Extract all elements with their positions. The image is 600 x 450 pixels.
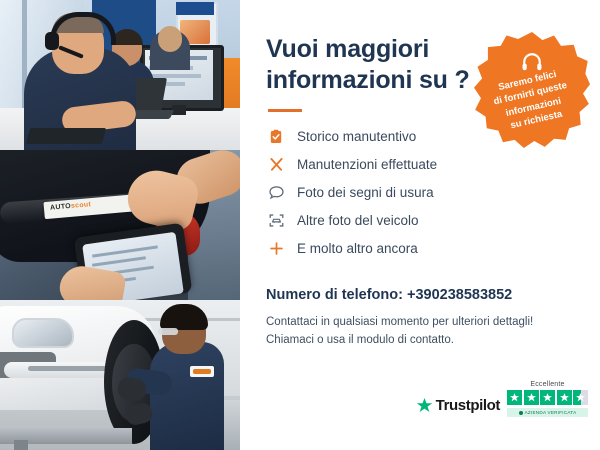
feature-item-maintenance-history: Storico manutentivo bbox=[266, 124, 506, 149]
poster-header bbox=[176, 2, 214, 15]
trustpilot-wordmark: Trustpilot bbox=[436, 397, 500, 414]
feature-label: Storico manutentivo bbox=[297, 129, 416, 144]
verified-check-icon bbox=[519, 411, 523, 415]
feature-label: Manutenzioni effettuate bbox=[297, 157, 437, 172]
photo-column: AUTOscout bbox=[0, 0, 240, 450]
tyre-service-photo bbox=[0, 300, 240, 450]
headset-earcup-icon bbox=[45, 32, 59, 50]
callout-badge: Saremo felici di fornirti queste informa… bbox=[474, 32, 590, 148]
feature-item-maintenance-done: Manutenzioni effettuate bbox=[266, 152, 506, 177]
promo-banner: AUTOscout bbox=[0, 0, 600, 450]
page-title: Vuoi maggiori informazioni su ? bbox=[266, 34, 476, 95]
feature-label: E molto altro ancora bbox=[297, 241, 418, 256]
speech-bubble-icon bbox=[266, 183, 286, 203]
car-headlight bbox=[12, 318, 74, 348]
trustpilot-badge[interactable]: Trustpilot Eccellente bbox=[416, 381, 588, 417]
contact-line-1: Contattaci in qualsiasi momento per ulte… bbox=[266, 314, 574, 332]
star-filled-icon bbox=[540, 390, 555, 405]
star-half-icon bbox=[573, 390, 588, 405]
contact-description: Contattaci in qualsiasi momento per ulte… bbox=[266, 314, 574, 350]
rating-label: Eccellente bbox=[507, 381, 588, 388]
star-filled-icon bbox=[507, 390, 522, 405]
vehicle-inspection-photo: AUTOscout bbox=[0, 150, 240, 300]
call-center-photo bbox=[0, 0, 240, 150]
desk-keyboard bbox=[26, 128, 107, 144]
mechanic-glasses bbox=[158, 328, 178, 335]
feature-label: Altre foto del veicolo bbox=[297, 213, 419, 228]
clipboard-check-icon bbox=[266, 127, 286, 147]
feature-label: Foto dei segni di usura bbox=[297, 185, 434, 200]
title-divider bbox=[268, 109, 302, 112]
trustpilot-logo: Trustpilot bbox=[416, 397, 500, 417]
phone-line: Numero di telefono: +390238583852 bbox=[266, 287, 574, 303]
trustpilot-rating: Eccellente bbox=[507, 381, 588, 417]
feature-item-wear-photos: Foto dei segni di usura bbox=[266, 180, 506, 205]
feature-item-more-photos: Altre foto del veicolo bbox=[266, 208, 506, 233]
phone-number[interactable]: +390238583852 bbox=[407, 287, 512, 303]
phone-label: Numero di telefono: bbox=[266, 287, 403, 303]
star-filled-icon bbox=[557, 390, 572, 405]
car-scan-icon bbox=[266, 211, 286, 231]
rating-stars bbox=[507, 390, 588, 405]
feature-item-more: E molto altro ancora bbox=[266, 236, 506, 261]
feature-list: Storico manutentivo Manutenzioni effettu… bbox=[266, 124, 506, 261]
uniform-logo-patch bbox=[190, 366, 214, 377]
verified-label: AZIENDA VERIFICATA bbox=[525, 410, 577, 415]
mechanic-body bbox=[150, 342, 224, 450]
trustpilot-star-icon bbox=[416, 397, 433, 414]
bumper-trim bbox=[28, 366, 108, 371]
star-filled-icon bbox=[524, 390, 539, 405]
verified-company-badge: AZIENDA VERIFICATA bbox=[507, 408, 588, 417]
background-colleague-head bbox=[158, 26, 182, 52]
plus-icon bbox=[266, 239, 286, 259]
content-panel: Vuoi maggiori informazioni su ? Saremo f… bbox=[240, 0, 600, 450]
lift-support bbox=[14, 440, 28, 450]
contact-line-2: Chiamaci o usa il modulo di contatto. bbox=[266, 332, 574, 350]
tools-cross-icon bbox=[266, 155, 286, 175]
headset-icon bbox=[521, 52, 543, 72]
